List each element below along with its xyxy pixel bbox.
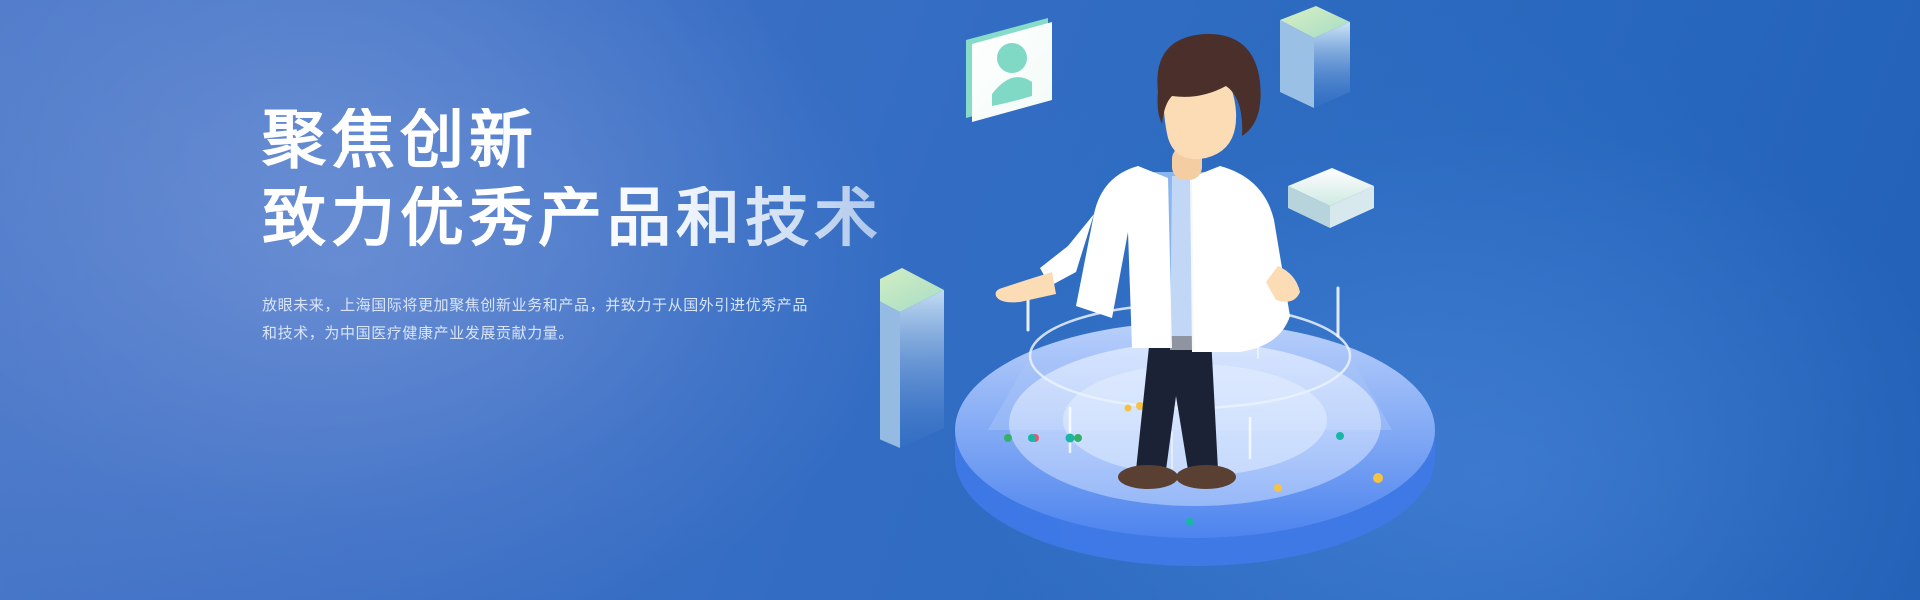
floating-flat-card-right (1288, 168, 1374, 228)
floating-block-right-top (1280, 6, 1350, 108)
headline-line-1: 聚焦创新 (262, 108, 902, 172)
doctor-shoe-right (1176, 465, 1236, 489)
subtitle-line-1: 放眼未来，上海国际将更加聚焦创新业务和产品，并致力于从国外引进优秀产品 (262, 292, 852, 320)
doctor-hand-pointing (996, 272, 1056, 302)
doctor-coat-left (1076, 166, 1172, 348)
hero-illustration (880, 0, 1920, 600)
floating-block-left-bottom (880, 268, 944, 448)
subtitle-line-2: 和技术，为中国医疗健康产业发展贡献力量。 (262, 320, 852, 348)
headline-line-2: 致力优秀产品和技术 (262, 186, 902, 250)
user-profile-card-icon (966, 18, 1052, 122)
banner-subtitle: 放眼未来，上海国际将更加聚焦创新业务和产品，并致力于从国外引进优秀产品 和技术，… (262, 292, 852, 348)
banner-copy-block: 聚焦创新 致力优秀产品和技术 放眼未来，上海国际将更加聚焦创新业务和产品，并致力… (262, 108, 902, 348)
doctor-coat-right (1190, 166, 1290, 352)
doctor-shoe-left (1118, 465, 1178, 489)
hero-banner: 聚焦创新 致力优秀产品和技术 放眼未来，上海国际将更加聚焦创新业务和产品，并致力… (0, 0, 1920, 600)
